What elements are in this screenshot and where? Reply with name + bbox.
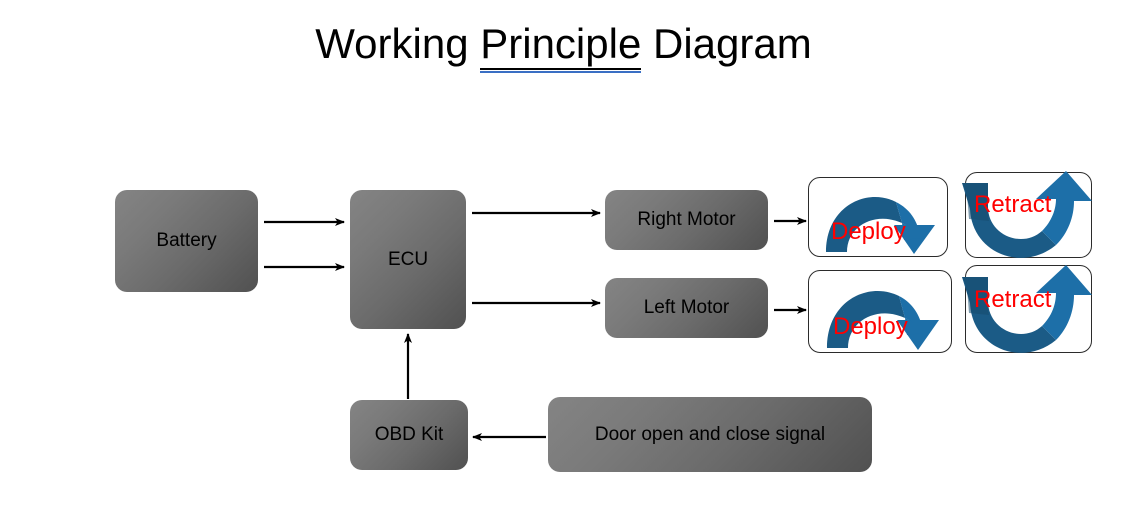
card-retract-left-label: Retract: [974, 288, 1051, 312]
node-door-signal[interactable]: Door open and close signal: [548, 397, 872, 472]
card-retract-left[interactable]: Retract: [965, 265, 1092, 353]
title-part-before: Working: [315, 20, 480, 67]
card-deploy-left-label: Deploy: [833, 315, 908, 339]
card-deploy-right-label: Deploy: [831, 220, 906, 244]
node-right-motor-label: Right Motor: [637, 209, 735, 231]
node-battery-label: Battery: [156, 230, 216, 252]
title-part-after: Diagram: [641, 20, 811, 67]
diagram-canvas: Working Principle Diagram Battery ECU: [0, 0, 1127, 515]
node-ecu[interactable]: ECU: [350, 190, 466, 329]
node-left-motor-label: Left Motor: [644, 297, 730, 319]
node-battery[interactable]: Battery: [115, 190, 258, 292]
title-part-flagged: Principle: [480, 20, 641, 70]
card-deploy-right[interactable]: Deploy: [808, 177, 948, 257]
node-right-motor[interactable]: Right Motor: [605, 190, 768, 250]
card-retract-right-label: Retract: [974, 193, 1051, 217]
node-left-motor[interactable]: Left Motor: [605, 278, 768, 338]
node-obd-kit-label: OBD Kit: [375, 424, 444, 446]
node-obd-kit[interactable]: OBD Kit: [350, 400, 468, 470]
page-title: Working Principle Diagram: [0, 20, 1127, 68]
card-deploy-left[interactable]: Deploy: [808, 270, 952, 353]
node-ecu-label: ECU: [388, 249, 428, 271]
card-retract-right[interactable]: Retract: [965, 172, 1092, 258]
node-door-signal-label: Door open and close signal: [595, 424, 825, 446]
